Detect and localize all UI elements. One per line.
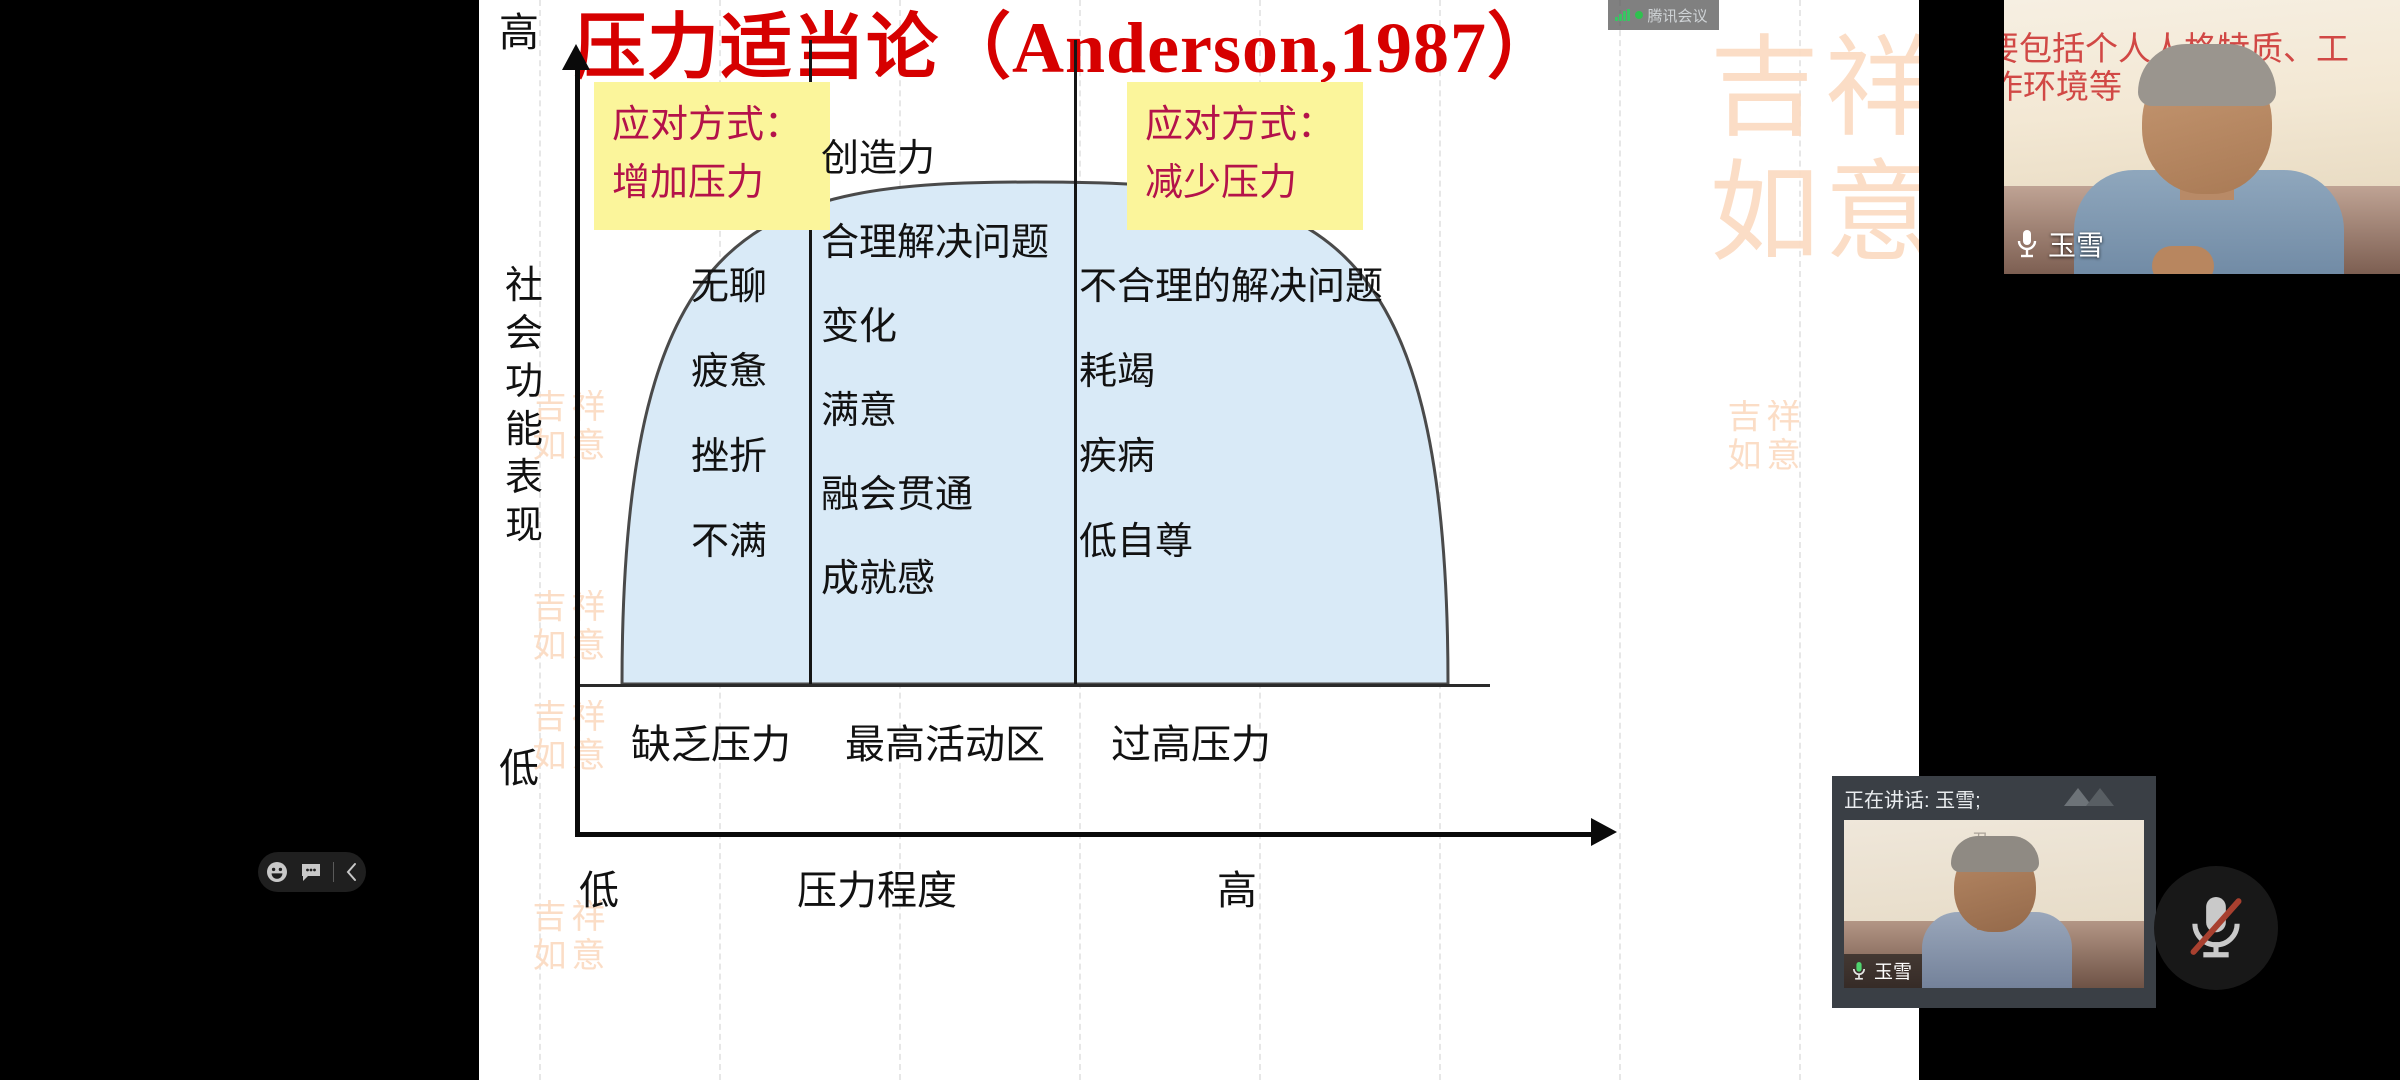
meeting-screen: 吉祥如意 吉祥如意 吉祥如意 吉祥如意 吉祥如意 吉祥如意 压力适当论（Ande… <box>0 0 2400 1080</box>
pip-person-hair <box>1951 836 2039 872</box>
pip-participant-name: 玉雪 <box>1874 957 1912 984</box>
person-hand <box>2152 246 2214 274</box>
grid-line <box>1619 0 1621 1080</box>
y-axis-title-char: 功 <box>501 358 547 406</box>
zone-items-middle: 创造力 合理解决问题 变化 满意 融会贯通 成就感 <box>821 138 1049 642</box>
watermark-char: 意 <box>1819 155 1919 280</box>
x-axis-low-label: 低 <box>579 858 619 916</box>
projected-text-line2: 作环境等 <box>2004 60 2122 108</box>
watermark-char: 意 <box>568 939 607 978</box>
zone-item: 合理解决问题 <box>821 222 1049 264</box>
y-axis-title-char: 现 <box>501 502 547 550</box>
zone-item: 无聊 <box>691 266 767 308</box>
coping-note-left: 应对方式： 增加压力 <box>594 82 830 230</box>
zone-item: 低自尊 <box>1079 521 1383 563</box>
watermark-char: 意 <box>1763 439 1802 478</box>
coping-note-right-line2: 减少压力 <box>1145 154 1345 212</box>
zone-item: 不合理的解决问题 <box>1079 266 1383 308</box>
coping-note-left-line2: 增加压力 <box>612 154 812 212</box>
tencent-meeting-logo-icon <box>2060 784 2130 810</box>
zone-item: 疲惫 <box>691 351 767 393</box>
x-axis-high-label: 高 <box>1217 858 1257 916</box>
active-speaker-pip[interactable]: 正在讲话: 玉雪; 丑 玉雪 <box>1832 776 2156 1008</box>
watermark-char: 吉 <box>1704 30 1819 155</box>
shared-slide: 吉祥如意 吉祥如意 吉祥如意 吉祥如意 吉祥如意 吉祥如意 压力适当论（Ande… <box>479 0 1919 1080</box>
person-hair <box>2138 44 2276 106</box>
zone-items-right: 不合理的解决问题 耗竭 疾病 低自尊 <box>1079 266 1383 606</box>
speaker-video-tile[interactable]: 要包括个人人格特质、工 作环境等 玉雪 <box>2004 0 2400 274</box>
zone-item: 创造力 <box>821 138 1049 180</box>
watermark-char: 如 <box>1724 439 1763 478</box>
zone-caption-right: 过高压力 <box>1111 712 1271 770</box>
signal-bars-icon <box>1615 9 1630 21</box>
chat-bubble-icon[interactable] <box>299 860 323 884</box>
pip-speaking-status: 正在讲话: 玉雪; <box>1844 784 1981 813</box>
watermark-seal: 吉祥如意 <box>1704 30 1919 280</box>
coping-note-right-line1: 应对方式： <box>1145 96 1345 154</box>
watermark-char: 如 <box>529 629 568 668</box>
zone-caption-middle: 最高活动区 <box>845 712 1045 770</box>
zone-caption-left: 缺乏压力 <box>631 712 791 770</box>
watermark-char: 祥 <box>568 700 607 739</box>
coping-note-left-line1: 应对方式： <box>612 96 812 154</box>
watermark-char: 如 <box>1704 155 1819 280</box>
y-axis-high-label: 高 <box>499 0 539 58</box>
x-axis-line <box>575 832 1595 837</box>
coping-note-right: 应对方式： 减少压力 <box>1127 82 1363 230</box>
watermark-char: 祥 <box>1819 30 1919 155</box>
y-axis-title-char: 表 <box>501 454 547 502</box>
chevron-left-icon[interactable] <box>344 861 360 883</box>
y-axis-title: 社会功能表现 <box>501 262 547 550</box>
zone-item: 变化 <box>821 306 1049 348</box>
status-dot-icon <box>1635 11 1643 19</box>
smiley-face-icon[interactable] <box>265 860 289 884</box>
dome-baseline <box>580 684 1490 687</box>
microphone-muted-icon <box>2183 890 2249 966</box>
pip-name-badge: 玉雪 <box>1844 954 1922 988</box>
watermark-char: 吉 <box>529 900 568 939</box>
watermark-char: 祥 <box>1763 400 1802 439</box>
y-axis-title-char: 会 <box>501 310 547 358</box>
microphone-active-icon <box>1850 960 1868 982</box>
watermark-char: 吉 <box>529 590 568 629</box>
speaker-name: 玉雪 <box>2048 224 2104 264</box>
y-axis-title-char: 社 <box>501 262 547 310</box>
watermark-char: 如 <box>529 939 568 978</box>
toolbar-divider <box>333 862 334 882</box>
watermark-char: 吉 <box>529 700 568 739</box>
tencent-meeting-badge: 腾讯会议 <box>1608 0 1719 30</box>
zone-item: 不满 <box>691 521 767 563</box>
mute-toggle-button[interactable] <box>2154 866 2278 990</box>
zone-item: 挫折 <box>691 436 767 478</box>
speaker-name-bar: 玉雪 <box>2014 224 2104 264</box>
x-axis-title: 压力程度 <box>797 858 957 916</box>
zone-item: 满意 <box>821 390 1049 432</box>
watermark-seal: 吉祥如意 <box>1724 400 1802 478</box>
mini-toolbar[interactable] <box>258 852 366 892</box>
x-axis-arrow-icon <box>1591 818 1617 846</box>
zone-item: 疾病 <box>1079 436 1383 478</box>
pip-video-feed: 丑 玉雪 <box>1844 820 2144 988</box>
zone-divider-2 <box>1074 40 1077 684</box>
watermark-seal: 吉祥如意 <box>529 700 607 778</box>
watermark-char: 吉 <box>1724 400 1763 439</box>
y-axis-title-char: 能 <box>501 406 547 454</box>
watermark-char: 意 <box>568 739 607 778</box>
microphone-icon <box>2014 227 2040 261</box>
pip-header: 正在讲话: 玉雪; <box>1832 776 2156 820</box>
zone-items-left: 无聊 疲惫 挫折 不满 <box>691 266 767 606</box>
y-axis-low-label: 低 <box>499 736 539 794</box>
zone-item: 融会贯通 <box>821 474 1049 516</box>
platform-name: 腾讯会议 <box>1648 5 1708 26</box>
zone-item: 耗竭 <box>1079 351 1383 393</box>
zone-item: 成就感 <box>821 558 1049 600</box>
